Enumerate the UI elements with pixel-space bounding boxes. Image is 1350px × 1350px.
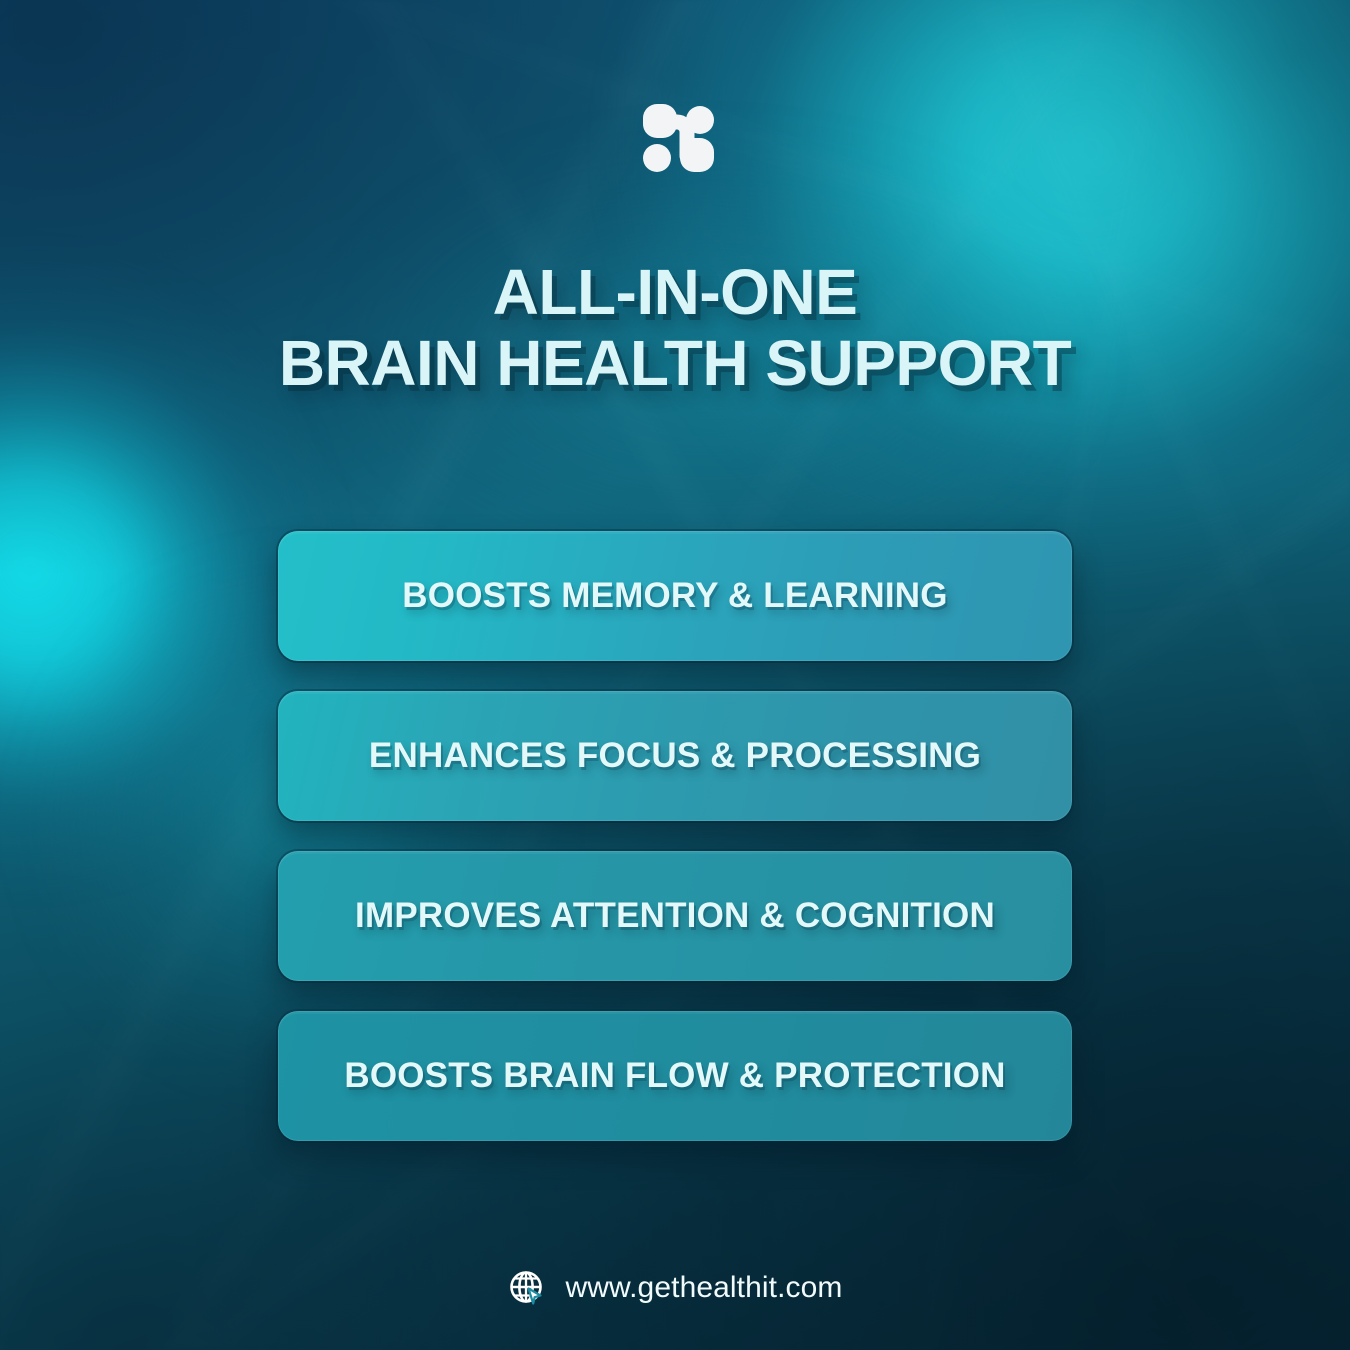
- promo-poster: ALL-IN-ONE BRAIN HEALTH SUPPORT BOOSTS M…: [0, 0, 1350, 1350]
- footer: www.gethealthit.com: [0, 1268, 1350, 1308]
- benefit-card-label: BOOSTS MEMORY & LEARNING: [402, 576, 947, 616]
- globe-cursor-icon: [507, 1268, 547, 1308]
- benefit-card[interactable]: IMPROVES ATTENTION & COGNITION: [278, 851, 1072, 981]
- benefit-card-label: BOOSTS BRAIN FLOW & PROTECTION: [344, 1056, 1005, 1096]
- benefit-card[interactable]: ENHANCES FOCUS & PROCESSING: [278, 691, 1072, 821]
- brand-logo: [633, 100, 717, 176]
- page-title: ALL-IN-ONE BRAIN HEALTH SUPPORT: [279, 260, 1071, 397]
- headline-line-1: ALL-IN-ONE: [279, 260, 1071, 325]
- benefit-card-label: ENHANCES FOCUS & PROCESSING: [369, 736, 981, 776]
- benefit-card[interactable]: BOOSTS MEMORY & LEARNING: [278, 531, 1072, 661]
- website-url[interactable]: www.gethealthit.com: [565, 1271, 842, 1305]
- node-h-logo-icon: [633, 100, 717, 176]
- benefit-card-list: BOOSTS MEMORY & LEARNING ENHANCES FOCUS …: [278, 531, 1072, 1141]
- benefit-card[interactable]: BOOSTS BRAIN FLOW & PROTECTION: [278, 1011, 1072, 1141]
- poster-content: ALL-IN-ONE BRAIN HEALTH SUPPORT BOOSTS M…: [0, 0, 1350, 1350]
- headline-line-2: BRAIN HEALTH SUPPORT: [279, 331, 1071, 396]
- benefit-card-label: IMPROVES ATTENTION & COGNITION: [355, 896, 995, 936]
